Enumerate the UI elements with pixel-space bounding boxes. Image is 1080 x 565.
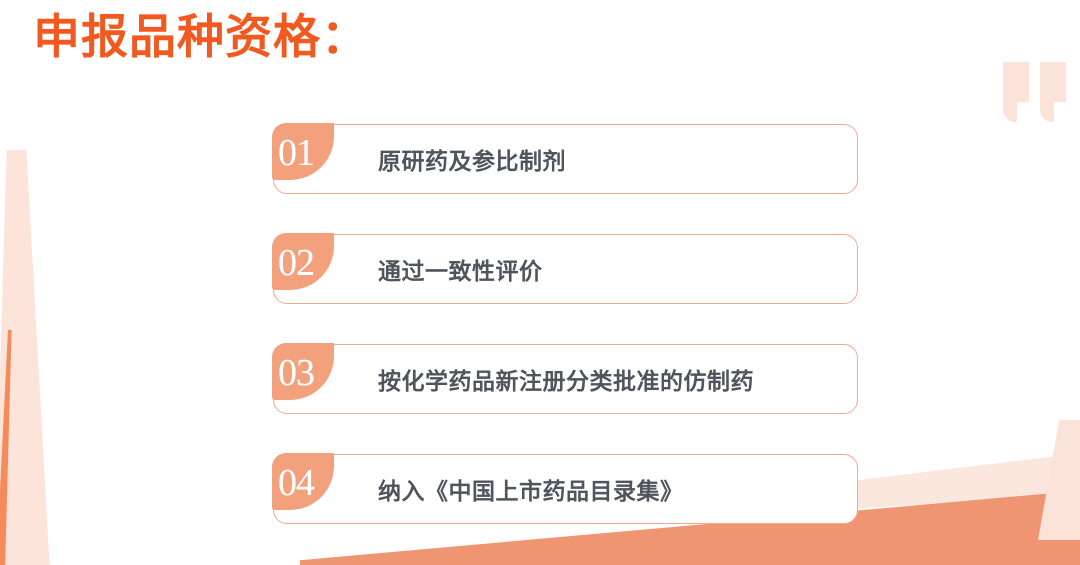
slide-canvas: 申报品种资格： 01 原研药及参比制剂 02 通过一致性评价 03 按化学药品新… xyxy=(0,0,1080,565)
item-number: 02 xyxy=(278,238,314,288)
item-number: 01 xyxy=(278,128,314,178)
item-label: 原研药及参比制剂 xyxy=(378,142,566,176)
left-orange-stripe-decoration xyxy=(0,330,26,565)
quotation-mark-stroke-right xyxy=(1040,62,1066,102)
list-item[interactable]: 04 纳入《中国上市药品目录集》 xyxy=(273,454,858,524)
item-label: 通过一致性评价 xyxy=(378,252,543,286)
quotation-mark-stroke-left xyxy=(1003,62,1029,102)
qualification-list: 01 原研药及参比制剂 02 通过一致性评价 03 按化学药品新注册分类批准的仿… xyxy=(273,124,858,524)
item-number: 03 xyxy=(278,348,314,398)
item-label: 按化学药品新注册分类批准的仿制药 xyxy=(378,362,754,396)
item-number: 04 xyxy=(278,458,314,508)
quotation-mark-icon xyxy=(1003,62,1066,102)
list-item[interactable]: 02 通过一致性评价 xyxy=(273,234,858,304)
list-item[interactable]: 01 原研药及参比制剂 xyxy=(273,124,858,194)
item-label: 纳入《中国上市药品目录集》 xyxy=(378,472,684,506)
list-item[interactable]: 03 按化学药品新注册分类批准的仿制药 xyxy=(273,344,858,414)
right-edge-sliver-decoration xyxy=(1038,420,1080,540)
left-diagonal-band-decoration xyxy=(0,150,84,565)
page-title: 申报品种资格： xyxy=(33,8,369,67)
